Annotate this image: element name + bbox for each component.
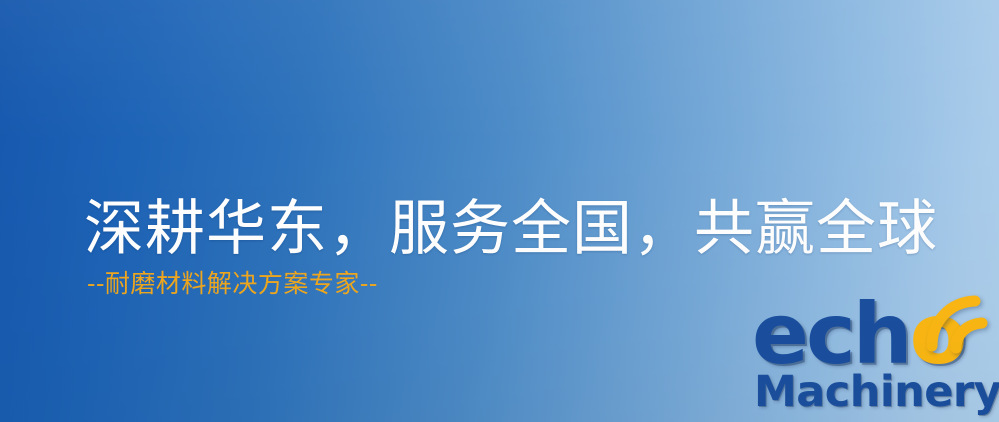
hero-banner: 深耕华东，服务全国，共赢全球 --耐磨材料解决方案专家-- echo Machi… [0,0,999,422]
banner-subtitle: --耐磨材料解决方案专家-- [87,268,378,300]
logo-brand-text: Machinery [754,367,999,417]
banner-headline: 深耕华东，服务全国，共赢全球 [84,192,964,266]
signal-wave-icon [926,291,996,353]
echo-machinery-logo[interactable]: echo Machinery® [748,292,996,418]
logo-brand-line: Machinery® [754,364,999,416]
